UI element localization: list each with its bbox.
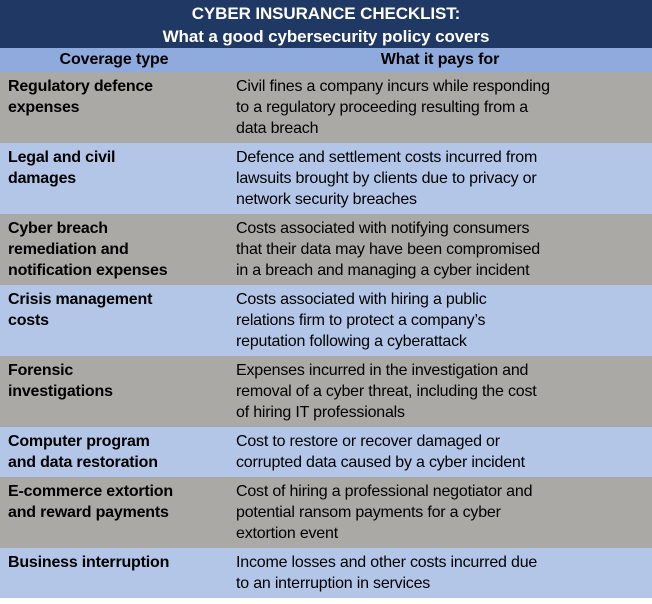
coverage-type-line: E-commerce extortion <box>8 481 222 502</box>
coverage-type-line: investigations <box>8 381 222 402</box>
coverage-type-line: Legal and civil <box>8 147 222 168</box>
cell-coverage-type: Legal and civildamages <box>0 143 228 193</box>
table-row: Regulatory defenceexpensesCivil fines a … <box>0 72 652 143</box>
cell-coverage-type: Forensicinvestigations <box>0 356 228 406</box>
title-line-primary: CYBER INSURANCE CHECKLIST: <box>8 2 644 25</box>
coverage-type-line: and data restoration <box>8 452 222 473</box>
table-row: E-commerce extortionand reward paymentsC… <box>0 477 652 548</box>
checklist-rows: Regulatory defenceexpensesCivil fines a … <box>0 72 652 598</box>
cell-what-it-pays-for: Costs associated with hiring a publicrel… <box>228 285 652 356</box>
pays-for-line: to a regulatory proceeding resulting fro… <box>236 97 644 118</box>
pays-for-line: reputation following a cyberattack <box>236 331 644 352</box>
cell-coverage-type: Regulatory defenceexpenses <box>0 72 228 122</box>
pays-for-line: Civil fines a company incurs while respo… <box>236 76 644 97</box>
table-row: Business interruptionIncome losses and o… <box>0 548 652 598</box>
table-row: ForensicinvestigationsExpenses incurred … <box>0 356 652 427</box>
cyber-insurance-checklist-table: CYBER INSURANCE CHECKLIST: What a good c… <box>0 0 652 604</box>
cell-what-it-pays-for: Cost of hiring a professional negotiator… <box>228 477 652 548</box>
pays-for-line: network security breaches <box>236 189 644 210</box>
cell-coverage-type: Cyber breachremediation andnotification … <box>0 214 228 285</box>
cell-coverage-type: Crisis managementcosts <box>0 285 228 335</box>
cell-what-it-pays-for: Civil fines a company incurs while respo… <box>228 72 652 143</box>
pays-for-line: Costs associated with hiring a public <box>236 289 644 310</box>
pays-for-line: potential ransom payments for a cyber <box>236 502 644 523</box>
cell-what-it-pays-for: Costs associated with notifying consumer… <box>228 214 652 285</box>
cell-coverage-type: Computer programand data restoration <box>0 427 228 477</box>
coverage-type-line: Forensic <box>8 360 222 381</box>
cell-coverage-type: Business interruption <box>0 548 228 577</box>
table-row: Computer programand data restorationCost… <box>0 427 652 477</box>
pays-for-line: extortion event <box>236 523 644 544</box>
pays-for-line: relations firm to protect a company’s <box>236 310 644 331</box>
pays-for-line: of hiring IT professionals <box>236 402 644 423</box>
coverage-type-line: expenses <box>8 97 222 118</box>
pays-for-line: Cost to restore or recover damaged or <box>236 431 644 452</box>
coverage-type-line: Regulatory defence <box>8 76 222 97</box>
cell-what-it-pays-for: Income losses and other costs incurred d… <box>228 548 652 598</box>
pays-for-line: Cost of hiring a professional negotiator… <box>236 481 644 502</box>
coverage-type-line: Cyber breach <box>8 218 222 239</box>
pays-for-line: lawsuits brought by clients due to priva… <box>236 168 644 189</box>
title-line-secondary: What a good cybersecurity policy covers <box>8 25 644 48</box>
title-banner: CYBER INSURANCE CHECKLIST: What a good c… <box>0 0 652 48</box>
table-row: Cyber breachremediation andnotification … <box>0 214 652 285</box>
coverage-type-line: notification expenses <box>8 260 222 281</box>
pays-for-line: corrupted data caused by a cyber inciden… <box>236 452 644 473</box>
coverage-type-line: and reward payments <box>8 502 222 523</box>
cell-coverage-type: E-commerce extortionand reward payments <box>0 477 228 527</box>
coverage-type-line: costs <box>8 310 222 331</box>
pays-for-line: in a breach and managing a cyber inciden… <box>236 260 644 281</box>
coverage-type-line: Crisis management <box>8 289 222 310</box>
pays-for-line: Expenses incurred in the investigation a… <box>236 360 644 381</box>
cell-what-it-pays-for: Defence and settlement costs incurred fr… <box>228 143 652 214</box>
coverage-type-line: remediation and <box>8 239 222 260</box>
pays-for-line: Costs associated with notifying consumer… <box>236 218 644 239</box>
coverage-type-line: Business interruption <box>8 552 222 573</box>
table-row: Crisis managementcostsCosts associated w… <box>0 285 652 356</box>
pays-for-line: Defence and settlement costs incurred fr… <box>236 147 644 168</box>
cell-what-it-pays-for: Cost to restore or recover damaged orcor… <box>228 427 652 477</box>
column-header-coverage-type: Coverage type <box>0 50 228 70</box>
pays-for-line: removal of a cyber threat, including the… <box>236 381 644 402</box>
pays-for-line: to an interruption in services <box>236 573 644 594</box>
cell-what-it-pays-for: Expenses incurred in the investigation a… <box>228 356 652 427</box>
column-header-what-it-pays-for: What it pays for <box>228 50 652 70</box>
coverage-type-line: Computer program <box>8 431 222 452</box>
pays-for-line: data breach <box>236 118 644 139</box>
coverage-type-line: damages <box>8 168 222 189</box>
table-row: Legal and civildamagesDefence and settle… <box>0 143 652 214</box>
pays-for-line: that their data may have been compromise… <box>236 239 644 260</box>
column-header-row: Coverage type What it pays for <box>0 48 652 72</box>
pays-for-line: Income losses and other costs incurred d… <box>236 552 644 573</box>
